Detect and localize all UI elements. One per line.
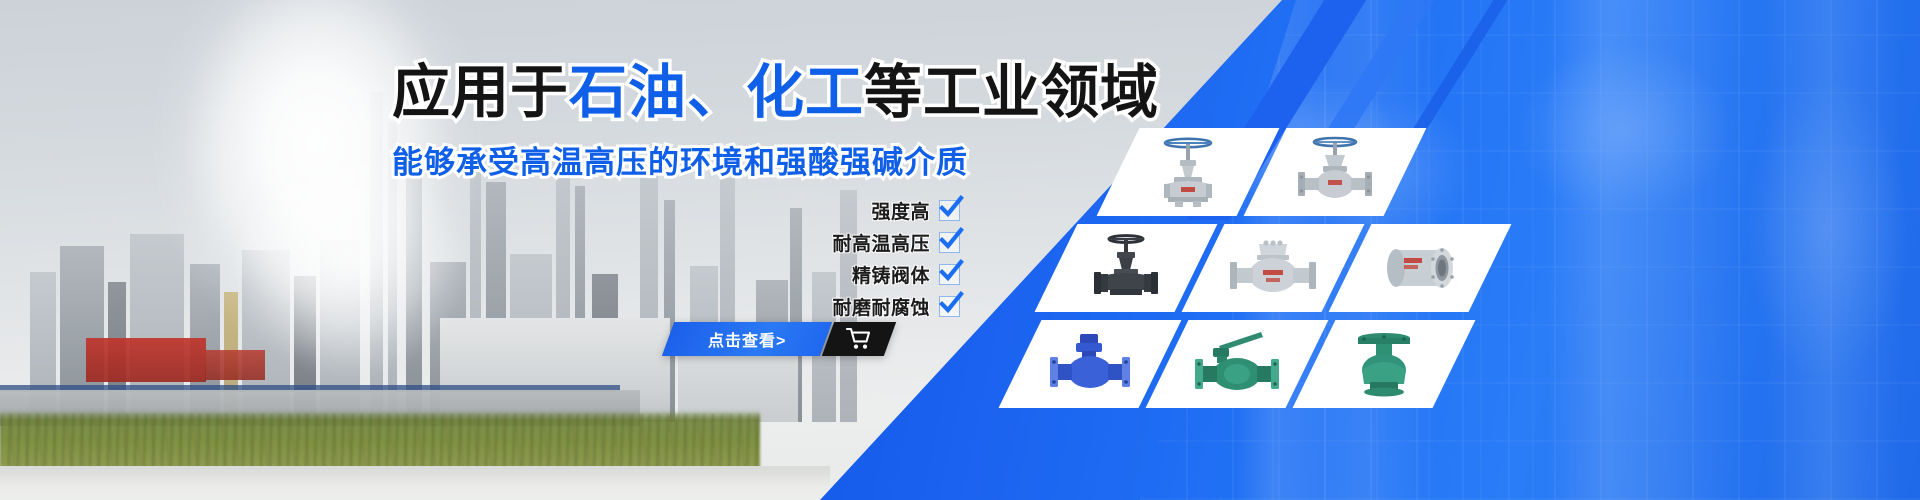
flanged-valve-green-icon [1330, 326, 1438, 402]
swing-check-valve-icon [1219, 230, 1327, 306]
feature-label: 精铸阀体 [852, 261, 930, 288]
headline-segment-1: 应用于 [392, 60, 569, 125]
feature-item: 耐高温高压 [690, 229, 960, 256]
product-row [1056, 224, 1490, 312]
cta-label: 点击查看> [708, 327, 786, 351]
page-title: 应用于石油、化工等工业领域 [392, 62, 1092, 125]
feature-item: 精铸阀体 [690, 261, 960, 288]
globe-valve-flanged-icon [1281, 134, 1389, 210]
headline-segment-highlight: 石油、化工 [569, 60, 864, 125]
wafer-check-valve-icon [1366, 230, 1474, 306]
forged-gate-valve-black-icon [1072, 230, 1180, 306]
headline-block: 应用于石油、化工等工业领域 能够承受高温高压的环境和强酸强碱介质 [392, 62, 1092, 182]
subtitle: 能够承受高温高压的环境和强酸强碱介质 [392, 137, 1092, 182]
product-row [1118, 128, 1405, 216]
headline-segment-3: 等工业领域 [864, 60, 1159, 125]
feature-list: 强度高 耐高温高压 精铸阀体 耐磨耐腐蚀 [690, 197, 960, 325]
ball-valve-green-lever-icon [1183, 326, 1291, 402]
product-row [1020, 320, 1454, 408]
feature-item: 强度高 [690, 197, 960, 224]
product-grid [1020, 128, 1560, 418]
feature-label: 耐高温高压 [832, 229, 930, 256]
check-icon [939, 296, 960, 317]
feature-item: 耐磨耐腐蚀 [690, 293, 960, 320]
feature-label: 耐磨耐腐蚀 [832, 293, 930, 320]
shopping-cart-icon [846, 327, 872, 351]
bottom-fade [0, 474, 900, 500]
gate-valve-handwheel-icon [1134, 134, 1242, 210]
check-icon [939, 232, 960, 253]
ball-valve-blue-icon [1036, 326, 1144, 402]
feature-label: 强度高 [871, 197, 930, 224]
cta-button-group[interactable]: 点击查看> [668, 322, 890, 356]
check-icon [939, 200, 960, 221]
view-details-button[interactable]: 点击查看> [662, 322, 832, 356]
promo-banner: 应用于石油、化工等工业领域 能够承受高温高压的环境和强酸强碱介质 强度高 耐高温… [0, 0, 1920, 500]
check-icon [939, 264, 960, 285]
cart-button[interactable] [822, 322, 896, 356]
